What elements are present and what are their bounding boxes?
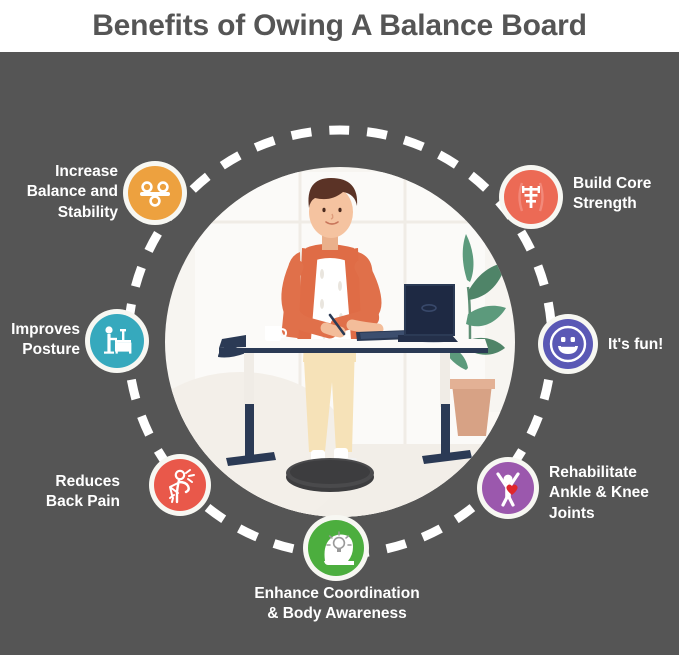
page-title: Benefits of Owing A Balance Board <box>92 9 587 43</box>
badge-reduces-back-pain[interactable] <box>149 454 211 516</box>
badge-its-fun[interactable] <box>538 314 598 374</box>
label-reduces-back-pain: Reduces Back Pain <box>20 472 120 513</box>
badge-increase-balance[interactable] <box>123 161 187 225</box>
badge-inner-improves-posture <box>90 314 144 368</box>
abs-torso-icon <box>511 177 551 217</box>
label-improves-posture: Improves Posture <box>0 320 80 361</box>
back-pain-icon <box>160 465 200 505</box>
label-build-core-strength: Build Core Strength <box>573 174 677 215</box>
badge-enhance-coordination[interactable] <box>303 515 369 581</box>
badge-inner-rehabilitate-joints <box>482 462 534 514</box>
person-heart-icon <box>488 468 528 508</box>
standing-desk-icon <box>97 321 137 361</box>
balance-board <box>286 458 374 492</box>
badge-inner-its-fun <box>543 319 593 369</box>
badge-rehabilitate-joints[interactable] <box>477 457 539 519</box>
brain-lightbulb-icon <box>315 527 357 569</box>
badge-inner-reduces-back-pain <box>154 459 206 511</box>
badge-inner-enhance-coordination <box>308 520 364 576</box>
label-enhance-coordination: Enhance Coordination & Body Awareness <box>239 584 435 625</box>
infographic-canvas: Increase Balance and Stability Build Cor… <box>0 52 679 655</box>
infographic-root: Benefits of Owing A Balance Board <box>0 0 679 655</box>
badge-improves-posture[interactable] <box>85 309 149 373</box>
label-rehabilitate-joints: Rehabilitate Ankle & Knee Joints <box>549 463 675 524</box>
balance-board-icon <box>135 173 175 213</box>
badge-inner-increase-balance <box>128 166 182 220</box>
smiley-face-icon <box>548 324 588 364</box>
badge-build-core-strength[interactable] <box>499 165 563 229</box>
badge-inner-build-core-strength <box>504 170 558 224</box>
label-its-fun: It's fun! <box>608 335 678 355</box>
title-bar: Benefits of Owing A Balance Board <box>0 0 679 52</box>
label-increase-balance: Increase Balance and Stability <box>8 162 118 223</box>
